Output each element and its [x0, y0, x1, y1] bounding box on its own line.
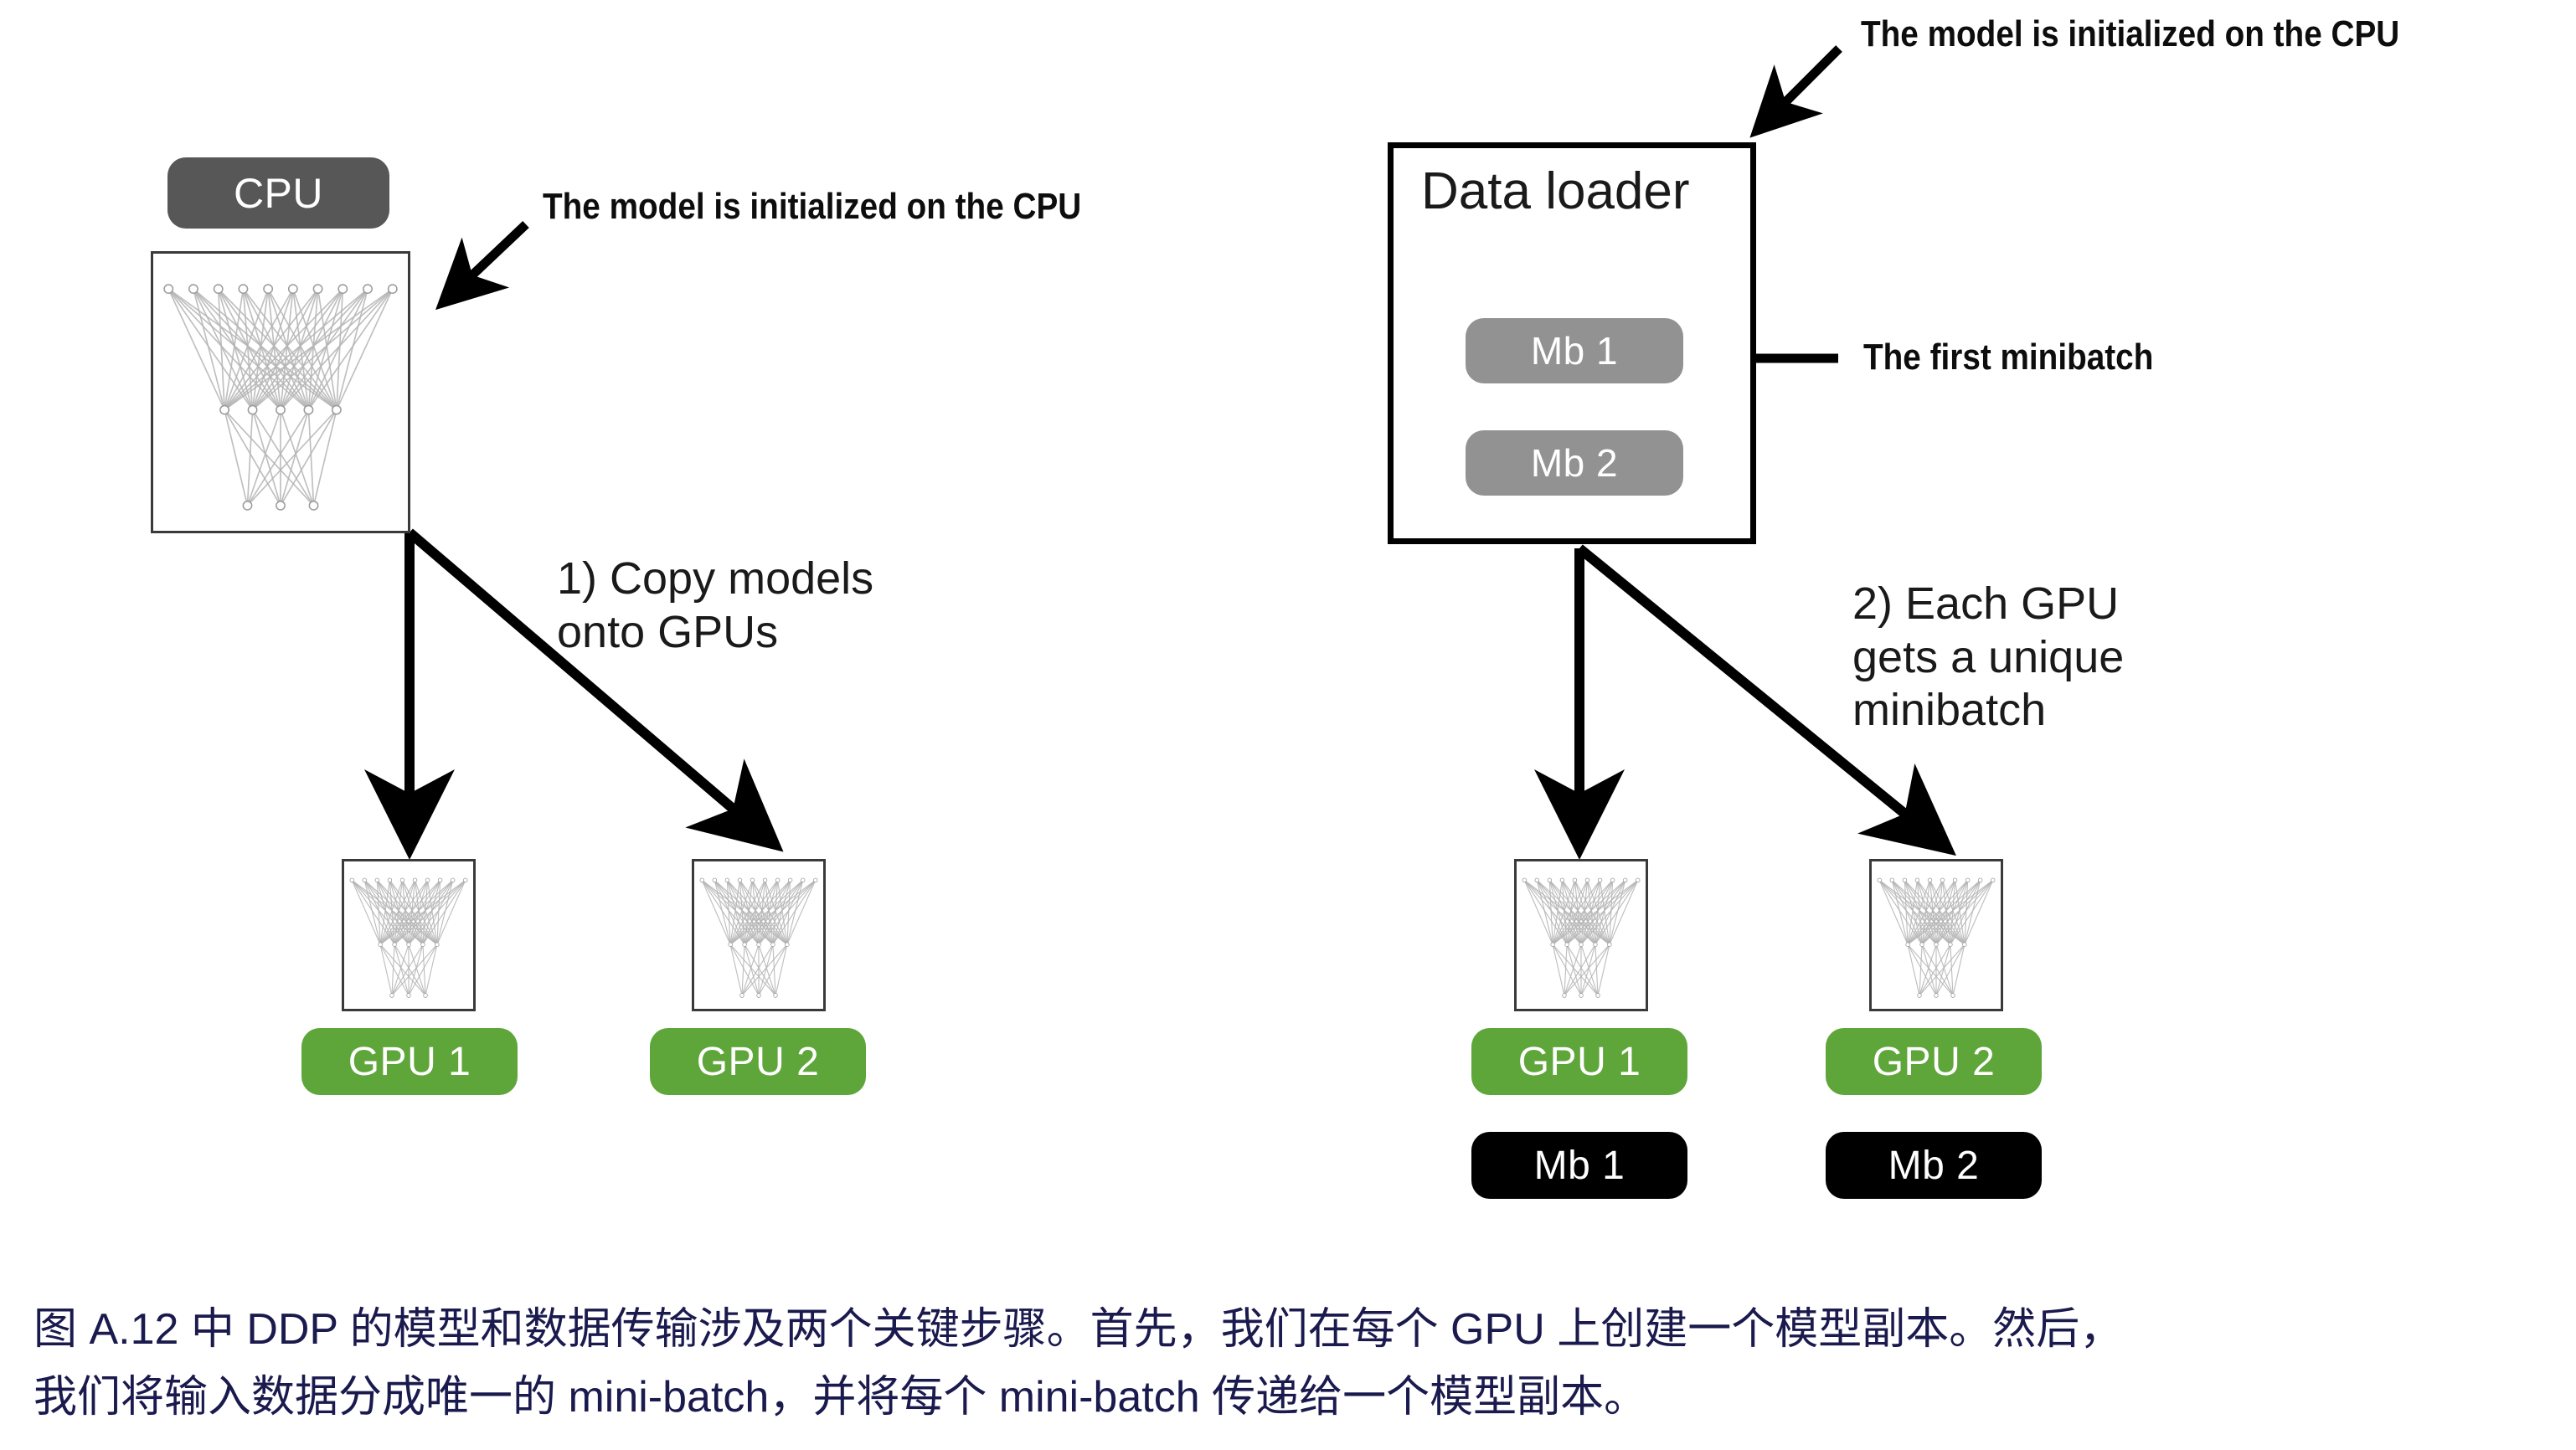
- neural-network-icon: [1872, 861, 2001, 1009]
- minibatch-2-label: Mb 2: [1531, 440, 1618, 486]
- right-gpu2-model-box: [1869, 859, 2003, 1011]
- left-gpu2-model-box: [692, 859, 826, 1011]
- right-gpu2-batch-badge: Mb 2: [1826, 1132, 2042, 1199]
- cpu-badge-label: CPU: [234, 169, 323, 218]
- left-gpu2-label: GPU 2: [697, 1039, 820, 1085]
- arrow-left-callout: [448, 224, 526, 298]
- right-gpu2-label: GPU 2: [1873, 1039, 1996, 1085]
- right-gpu1-batch-label: Mb 1: [1534, 1143, 1625, 1189]
- figure-caption: 图 A.12 中 DDP 的模型和数据传输涉及两个关键步骤。首先，我们在每个 G…: [33, 1296, 2554, 1431]
- right-gpu1-badge: GPU 1: [1471, 1028, 1687, 1095]
- neural-network-icon: [1517, 861, 1646, 1009]
- right-gpu1-label: GPU 1: [1518, 1039, 1641, 1085]
- right-callout-model-text: The model is initialized on the CPU: [1861, 13, 2399, 55]
- neural-network-icon: [153, 254, 408, 531]
- right-callout-minibatch-text: The first minibatch: [1863, 337, 2153, 378]
- right-gpu1-batch-badge: Mb 1: [1471, 1132, 1687, 1199]
- left-gpu1-model-box: [342, 859, 476, 1011]
- cpu-model-box: [151, 251, 410, 533]
- data-loader-title: Data loader: [1421, 162, 1690, 221]
- right-gpu2-badge: GPU 2: [1826, 1028, 2042, 1095]
- arrow-right-callout-model: [1762, 49, 1839, 126]
- caption-line-1: 图 A.12 中 DDP 的模型和数据传输涉及两个关键步骤。首先，我们在每个 G…: [33, 1296, 2554, 1364]
- neural-network-icon: [344, 861, 473, 1009]
- minibatch-1-label: Mb 1: [1531, 328, 1618, 373]
- left-step-label: 1) Copy models onto GPUs: [557, 553, 873, 659]
- caption-line-2: 我们将输入数据分成唯一的 mini-batch，并将每个 mini-batch …: [33, 1364, 2554, 1432]
- left-gpu1-badge: GPU 1: [301, 1028, 518, 1095]
- neural-network-icon: [694, 861, 823, 1009]
- left-callout-text: The model is initialized on the CPU: [543, 186, 1081, 228]
- minibatch-2-chip: Mb 2: [1466, 430, 1683, 496]
- right-gpu1-model-box: [1514, 859, 1648, 1011]
- left-gpu1-label: GPU 1: [348, 1039, 471, 1085]
- left-gpu2-badge: GPU 2: [650, 1028, 866, 1095]
- right-gpu2-batch-label: Mb 2: [1888, 1143, 1980, 1189]
- figure-canvas: CPU The model is initialized on the CPU …: [0, 0, 2576, 1450]
- cpu-badge: CPU: [167, 157, 389, 229]
- right-step-label: 2) Each GPU gets a unique minibatch: [1852, 578, 2124, 738]
- minibatch-1-chip: Mb 1: [1466, 318, 1683, 383]
